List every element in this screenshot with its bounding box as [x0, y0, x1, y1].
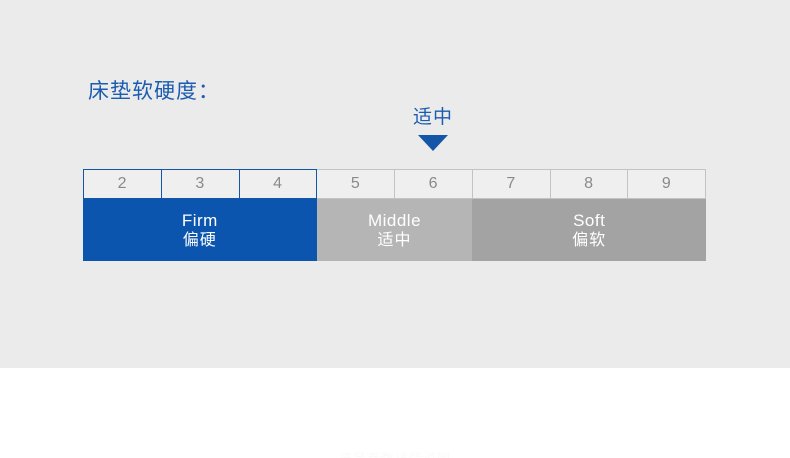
scale-number-cell[interactable]: 4	[239, 169, 318, 199]
scale-band-label-zh: 偏软	[572, 231, 606, 251]
page-root: 床垫软硬度： 适中 2 3 4 5 6 7 8 9 Firm 偏硬 Middle…	[0, 0, 790, 458]
scale-number-cell[interactable]: 5	[316, 169, 395, 199]
scale-number-cell[interactable]: 8	[550, 169, 629, 199]
bottom-cutoff-text: 产品参数详情说明	[0, 452, 790, 458]
scale-band-middle[interactable]: Middle 适中	[317, 199, 473, 261]
firmness-scale-bands: Firm 偏硬 Middle 适中 Soft 偏软	[83, 199, 706, 261]
scale-band-label-zh: 适中	[377, 231, 411, 251]
background-band-bottom	[0, 368, 790, 458]
firmness-scale[interactable]: 2 3 4 5 6 7 8 9 Firm 偏硬 Middle 适中 Soft 偏…	[83, 169, 706, 261]
scale-band-firm[interactable]: Firm 偏硬	[83, 199, 317, 261]
scale-band-soft[interactable]: Soft 偏软	[472, 199, 706, 261]
triangle-down-icon	[418, 135, 448, 151]
selection-pointer-label: 适中	[396, 106, 470, 130]
scale-number-cell[interactable]: 6	[394, 169, 473, 199]
scale-number-cell[interactable]: 3	[161, 169, 240, 199]
scale-number-cell[interactable]: 9	[627, 169, 706, 199]
scale-band-label-zh: 偏硬	[183, 231, 217, 251]
scale-band-label-en: Soft	[573, 210, 605, 231]
scale-band-label-en: Firm	[182, 210, 218, 231]
selection-pointer: 适中	[396, 106, 470, 151]
page-title: 床垫软硬度：	[88, 78, 220, 106]
scale-number-cell[interactable]: 2	[83, 169, 162, 199]
scale-number-cell[interactable]: 7	[472, 169, 551, 199]
firmness-scale-numbers: 2 3 4 5 6 7 8 9	[83, 169, 706, 199]
scale-band-label-en: Middle	[368, 210, 421, 231]
